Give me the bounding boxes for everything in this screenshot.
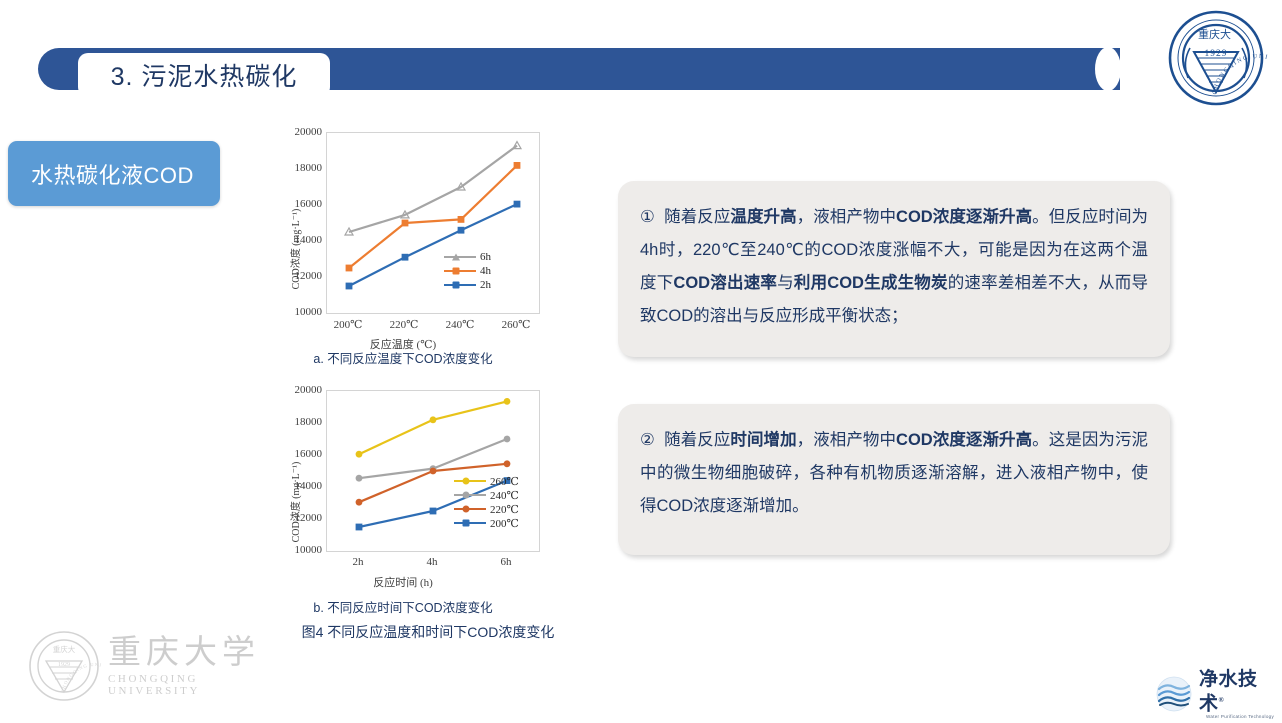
y-tick-label: 18000 (295, 416, 323, 428)
legend-item-6h: 6h (444, 250, 491, 264)
y-tick-label: 16000 (295, 448, 323, 460)
chart-b-legend: 260℃240℃220℃200℃ (454, 474, 519, 530)
x-tick-label: 200℃ (334, 318, 363, 331)
chart-a-plot-area (326, 132, 540, 314)
chart-a-y-ticks: 100001200014000160001800020000 (274, 132, 322, 312)
x-tick-label: 260℃ (502, 318, 531, 331)
legend-label: 6h (480, 251, 491, 263)
chart-b-y-ticks: 100001200014000160001800020000 (274, 390, 322, 550)
series-line-260℃ (359, 401, 507, 454)
y-tick-label: 18000 (295, 162, 323, 174)
legend-item-260℃: 260℃ (454, 474, 519, 488)
water-wave-icon (1152, 674, 1196, 714)
chongqing-university-watermark: 1929 重庆大 CHONGQING UNIVERSITY 重庆大学 CHONG… (26, 626, 282, 706)
svg-text:重庆大: 重庆大 (1198, 27, 1231, 41)
header-bar-notch (1095, 47, 1121, 91)
y-tick-label: 20000 (295, 126, 323, 138)
water-purification-en: Water Purification Technology (1199, 714, 1274, 719)
chart-a-container: COD浓度 (mg·L⁻¹)10000120001400016000180002… (258, 126, 548, 371)
data-point (504, 398, 511, 405)
legend-item-2h: 2h (444, 278, 491, 292)
registered-mark: ® (1219, 696, 1225, 704)
data-point (430, 416, 437, 423)
chart-b-caption: b. 不同反应时间下COD浓度变化 (258, 597, 548, 616)
chart-b: COD浓度 (mg·L⁻¹)10000120001400016000180002… (258, 384, 548, 619)
chart-a-legend: 6h4h2h (444, 250, 491, 292)
series-line-2h (349, 204, 517, 286)
legend-swatch-icon (454, 489, 486, 501)
figure-number-caption: 图4 不同反应温度和时间下COD浓度变化 (258, 622, 598, 642)
data-point (430, 508, 437, 515)
data-point (458, 227, 465, 234)
chart-b-x-axis-label: 反应时间 (h) (258, 574, 548, 590)
note-box-2: ② 随着反应时间增加，液相产物中COD浓度逐渐升高。这是因为污泥中的微生物细胞破… (618, 404, 1170, 555)
note-box-1: ① 随着反应温度升高，液相产物中COD浓度逐渐升高。但反应时间为4h时，220℃… (618, 181, 1170, 357)
chongqing-university-seal-icon: 1929 重庆大 CHONGQING UNIVERSITY (1164, 6, 1268, 110)
watermark-cn-text: 重庆大学 (108, 635, 282, 671)
legend-label: 220℃ (490, 503, 519, 516)
legend-item-4h: 4h (444, 264, 491, 278)
legend-label: 2h (480, 279, 491, 291)
data-point (458, 216, 465, 223)
note-box-2-text: ② 随着反应时间增加，液相产物中COD浓度逐渐升高。这是因为污泥中的微生物细胞破… (618, 404, 1170, 523)
water-purification-cn: 净水技术® (1199, 669, 1274, 714)
page-title-text: 3. 污泥水热碳化 (111, 57, 298, 93)
page-title: 3. 污泥水热碳化 (78, 53, 330, 97)
legend-swatch-icon (454, 503, 486, 515)
y-tick-label: 12000 (295, 270, 323, 282)
y-tick-label: 20000 (295, 384, 323, 396)
y-tick-label: 12000 (295, 512, 323, 524)
data-point (430, 468, 437, 475)
svg-text:重庆大: 重庆大 (53, 644, 76, 654)
svg-text:1929: 1929 (58, 662, 70, 668)
data-point (356, 451, 363, 458)
chart-a-caption: a. 不同反应温度下COD浓度变化 (258, 348, 548, 367)
section-label: 水热碳化液COD (8, 141, 220, 206)
water-purification-technology-logo: 净水技术® Water Purification Technology (1152, 672, 1274, 716)
legend-item-200℃: 200℃ (454, 516, 519, 530)
legend-label: 200℃ (490, 517, 519, 530)
legend-item-220℃: 220℃ (454, 502, 519, 516)
chongqing-university-seal-watermark-icon: 1929 重庆大 CHONGQING UNIVERSITY (26, 628, 102, 704)
water-purification-text: 净水技术® Water Purification Technology (1199, 669, 1274, 719)
data-point (504, 460, 511, 467)
chongqing-university-watermark-text: 重庆大学 CHONGQING UNIVERSITY (108, 635, 282, 697)
legend-swatch-icon (444, 265, 476, 277)
x-tick-label: 2h (353, 556, 364, 568)
y-tick-label: 10000 (295, 306, 323, 318)
legend-label: 240℃ (490, 489, 519, 502)
legend-swatch-icon (444, 251, 476, 263)
note-box-1-text: ① 随着反应温度升高，液相产物中COD浓度逐渐升高。但反应时间为4h时，220℃… (618, 181, 1170, 333)
chart-b-container: COD浓度 (mg·L⁻¹)10000120001400016000180002… (258, 384, 548, 619)
slide-canvas: 3. 污泥水热碳化 1929 重庆大 CHONGQING UNIVERSITY … (0, 0, 1282, 723)
data-point (504, 436, 511, 443)
y-tick-label: 10000 (295, 544, 323, 556)
y-tick-label: 14000 (295, 480, 323, 492)
y-tick-label: 16000 (295, 198, 323, 210)
data-point (402, 254, 409, 261)
data-point (346, 283, 353, 290)
data-point (514, 162, 521, 169)
data-point (513, 142, 521, 149)
x-tick-label: 240℃ (446, 318, 475, 331)
data-point (346, 265, 353, 272)
chart-a-series-layer (327, 133, 539, 313)
legend-label: 4h (480, 265, 491, 277)
svg-text:1929: 1929 (1205, 49, 1228, 59)
legend-swatch-icon (454, 475, 486, 487)
data-point (402, 220, 409, 227)
x-tick-label: 6h (501, 556, 512, 568)
legend-item-240℃: 240℃ (454, 488, 519, 502)
data-point (514, 201, 521, 208)
data-point (356, 499, 363, 506)
x-tick-label: 220℃ (390, 318, 419, 331)
watermark-en-text: CHONGQING UNIVERSITY (108, 673, 282, 697)
section-label-text: 水热碳化液COD (31, 158, 194, 190)
data-point (356, 524, 363, 531)
chart-a: COD浓度 (mg·L⁻¹)10000120001400016000180002… (258, 126, 548, 371)
x-tick-label: 4h (427, 556, 438, 568)
legend-label: 260℃ (490, 475, 519, 488)
water-purification-cn-label: 净水技术 (1199, 669, 1258, 714)
data-point (356, 475, 363, 482)
legend-swatch-icon (444, 279, 476, 291)
legend-swatch-icon (454, 517, 486, 529)
y-tick-label: 14000 (295, 234, 323, 246)
